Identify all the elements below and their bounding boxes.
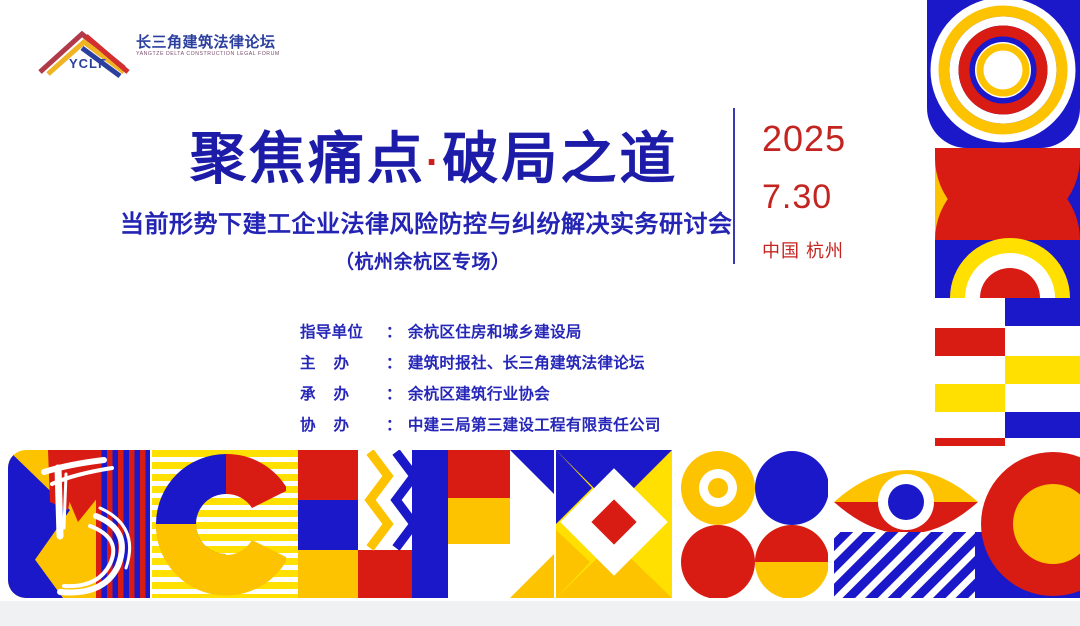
bottom-decor-band <box>0 446 1080 601</box>
organizer-label: 协办 <box>300 413 386 435</box>
organizer-list: 指导单位 ： 余杭区住房和城乡建设局 主办 ： 建筑时报社、长三角建筑法律论坛 … <box>300 320 661 444</box>
title-separator-dot: · <box>426 141 442 185</box>
forum-logo: 长三角建筑法律论坛 YANGTZE DELTA CONSTRUCTION LEG… <box>36 28 261 78</box>
right-decor-column <box>927 0 1080 446</box>
edge-stripe-sliver <box>286 450 298 598</box>
organizer-row: 承办 ： 余杭区建筑行业协会 <box>300 382 661 404</box>
organizer-value: 建筑时报社、长三角建筑法律论坛 <box>408 351 645 373</box>
event-date: 7.30 <box>762 178 832 217</box>
diamond-tile <box>556 450 672 598</box>
title-part-two: 破局之道 <box>442 127 678 190</box>
organizer-label: 承办 <box>300 382 386 404</box>
logo-english-name: YANGTZE DELTA CONSTRUCTION LEGAL FORUM <box>136 51 280 57</box>
organizer-row: 指导单位 ： 余杭区住房和城乡建设局 <box>300 320 661 342</box>
stripe-checker-tile <box>927 298 1080 446</box>
organizer-colon: ： <box>386 413 402 435</box>
concentric-rings-tile <box>927 0 1080 148</box>
red-half-disc-tile <box>927 148 1080 298</box>
organizer-value: 余杭区住房和城乡建设局 <box>408 320 582 342</box>
poster-canvas: 长三角建筑法律论坛 YANGTZE DELTA CONSTRUCTION LEG… <box>0 0 1080 601</box>
page-title: 聚焦痛点·破局之道 <box>190 114 678 195</box>
organizer-colon: ： <box>386 351 402 373</box>
letter-l-tile <box>296 450 358 598</box>
event-year: 2025 <box>762 118 846 160</box>
letter-f-tile <box>412 450 554 598</box>
vertical-divider <box>733 108 735 264</box>
logo-chinese-name: 长三角建筑法律论坛 <box>136 31 276 52</box>
circle-grid-tile <box>680 450 828 598</box>
organizer-row: 主办 ： 建筑时报社、长三角建筑法律论坛 <box>300 351 661 373</box>
page-bottom-strip <box>0 601 1080 626</box>
organizer-label: 指导单位 <box>300 320 386 342</box>
letter-c-tile <box>152 450 294 598</box>
organizer-colon: ： <box>386 382 402 404</box>
subtitle: 当前形势下建工企业法律风险防控与纠纷解决实务研讨会 <box>120 204 733 239</box>
organizer-label: 主办 <box>300 351 386 373</box>
logo-acronym: YCLF <box>69 56 107 71</box>
red-ring-tile <box>975 450 1080 598</box>
organizer-value: 中建三局第三建设工程有限责任公司 <box>408 413 661 435</box>
letter-y-tile <box>8 450 150 598</box>
organizer-row: 协办 ： 中建三局第三建设工程有限责任公司 <box>300 413 661 435</box>
event-location: 中国 杭州 <box>762 237 844 263</box>
title-part-one: 聚焦痛点 <box>190 127 426 190</box>
organizer-colon: ： <box>386 320 402 342</box>
organizer-value: 余杭区建筑行业协会 <box>408 382 550 404</box>
eye-tile <box>832 450 980 598</box>
subtitle-note: （杭州余杭区专场） <box>335 247 511 274</box>
